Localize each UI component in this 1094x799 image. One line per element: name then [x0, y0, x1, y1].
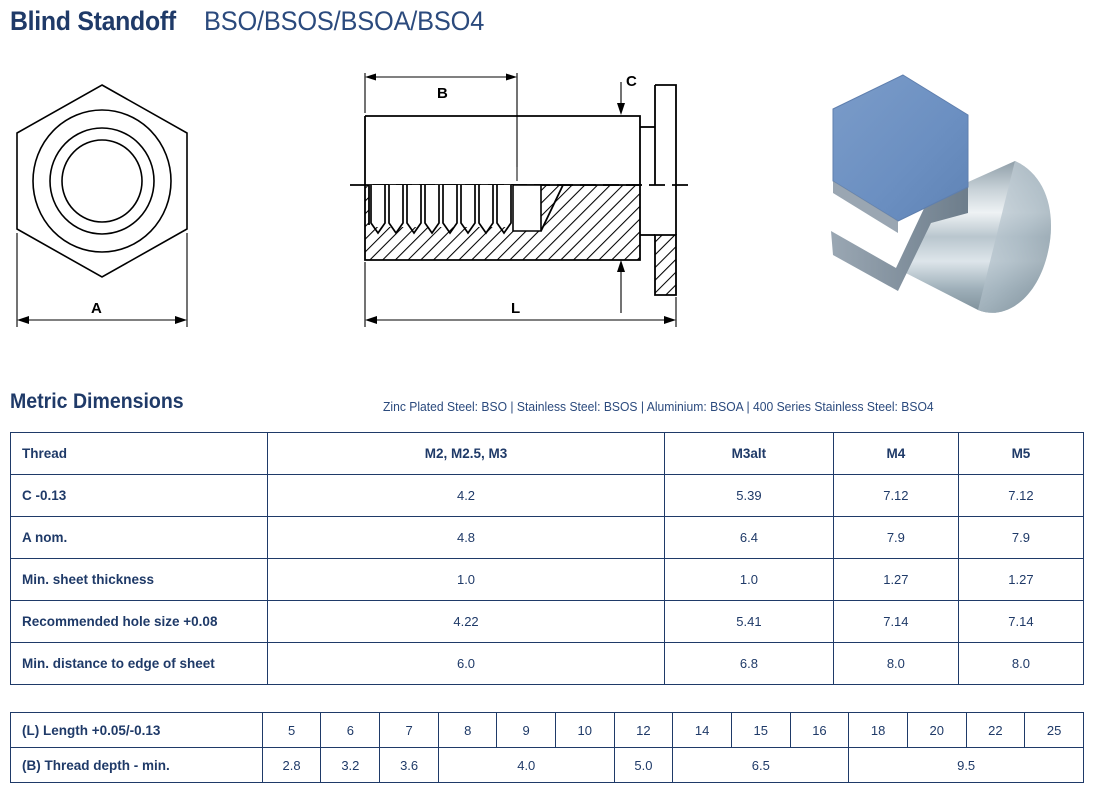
dim-label-l: L: [511, 300, 520, 317]
cell-length: 10: [555, 713, 614, 748]
cell-value: 7.14: [833, 601, 958, 643]
arrow-left-l: [365, 316, 377, 324]
table-header-row: Thread M2, M2.5, M3 M3alt M4 M5: [11, 433, 1084, 475]
sheet-upper-outline: [655, 85, 676, 185]
cell-value: 8.0: [833, 643, 958, 685]
circle-middle: [50, 128, 154, 234]
metric-dimensions-table: Thread M2, M2.5, M3 M3alt M4 M5 C -0.13 …: [10, 432, 1084, 685]
col-header-m3alt: M3alt: [665, 433, 834, 475]
cell-length: 9: [497, 713, 555, 748]
cell-value: 6.0: [268, 643, 665, 685]
hex-outline: [17, 85, 187, 277]
circle-outer: [33, 110, 171, 252]
materials-note: Zinc Plated Steel: BSO | Stainless Steel…: [383, 400, 934, 414]
cell-length: 20: [907, 713, 966, 748]
col-header-m4: M4: [833, 433, 958, 475]
thread-bore: [369, 185, 563, 233]
cell-length: 18: [849, 713, 908, 748]
cell-thread-depth: 4.0: [439, 748, 615, 783]
cell-value: 4.8: [268, 517, 665, 559]
cell-length: 16: [790, 713, 849, 748]
cell-value: 1.0: [665, 559, 834, 601]
row-label-c: C -0.13: [11, 475, 268, 517]
standoff-3d-render: [800, 63, 1070, 343]
cell-length: 12: [614, 713, 673, 748]
row-label-min-sheet-thickness: Min. sheet thickness: [11, 559, 268, 601]
cell-value: 5.39: [665, 475, 834, 517]
arrow-right-b: [506, 74, 517, 81]
table-row: Recommended hole size +0.08 4.22 5.41 7.…: [11, 601, 1084, 643]
table-row: Min. sheet thickness 1.0 1.0 1.27 1.27: [11, 559, 1084, 601]
cell-thread-depth: 2.8: [262, 748, 321, 783]
cell-thread-depth: 6.5: [673, 748, 849, 783]
technical-drawings: A: [0, 55, 1094, 355]
cell-length: 7: [380, 713, 439, 748]
cell-length: 22: [966, 713, 1025, 748]
cell-value: 7.12: [958, 475, 1083, 517]
arrow-left-b: [365, 74, 376, 81]
cell-thread-depth: 9.5: [849, 748, 1084, 783]
circle-inner: [62, 140, 142, 222]
table-row: Min. distance to edge of sheet 6.0 6.8 8…: [11, 643, 1084, 685]
dim-label-c: C: [626, 73, 637, 90]
cell-length: 5: [262, 713, 321, 748]
cell-value: 7.14: [958, 601, 1083, 643]
cell-value: 1.0: [268, 559, 665, 601]
hex-front-view: [5, 55, 220, 345]
table-row-length: (L) Length +0.05/-0.13 5 6 7 8 9 10 12 1…: [11, 713, 1084, 748]
table-row: A nom. 4.8 6.4 7.9 7.9: [11, 517, 1084, 559]
length-thread-depth-table: (L) Length +0.05/-0.13 5 6 7 8 9 10 12 1…: [10, 712, 1084, 783]
col-header-m2-m25-m3: M2, M2.5, M3: [268, 433, 665, 475]
page-title-main: Blind Standoff: [10, 6, 176, 37]
cell-value: 7.9: [958, 517, 1083, 559]
cell-value: 5.41: [665, 601, 834, 643]
dim-label-a: A: [91, 300, 102, 317]
row-label-length: (L) Length +0.05/-0.13: [11, 713, 263, 748]
table-row-thread-depth: (B) Thread depth - min. 2.8 3.2 3.6 4.0 …: [11, 748, 1084, 783]
arrow-left-a: [17, 316, 29, 324]
col-header-m5: M5: [958, 433, 1083, 475]
page-title: Blind Standoff BSO/BSOS/BSOA/BSO4: [10, 6, 502, 37]
arrow-down-c: [617, 103, 625, 115]
arrow-up-c: [617, 260, 625, 272]
cell-length: 8: [439, 713, 497, 748]
row-label-recommended-hole-size: Recommended hole size +0.08: [11, 601, 268, 643]
cell-value: 1.27: [833, 559, 958, 601]
cell-thread-depth: 3.6: [380, 748, 439, 783]
table-row: C -0.13 4.2 5.39 7.12 7.12: [11, 475, 1084, 517]
cell-length: 14: [673, 713, 732, 748]
cell-thread-depth: 3.2: [321, 748, 380, 783]
cell-value: 7.12: [833, 475, 958, 517]
dim-label-b: B: [437, 85, 448, 102]
col-header-thread: Thread: [11, 433, 268, 475]
page-title-product-codes: BSO/BSOS/BSOA/BSO4: [204, 6, 484, 37]
cell-value: 6.4: [665, 517, 834, 559]
cell-thread-depth: 5.0: [614, 748, 673, 783]
cell-value: 7.9: [833, 517, 958, 559]
cell-value: 4.22: [268, 601, 665, 643]
cell-length: 25: [1025, 713, 1084, 748]
row-label-min-edge-distance: Min. distance to edge of sheet: [11, 643, 268, 685]
cell-value: 1.27: [958, 559, 1083, 601]
cell-value: 4.2: [268, 475, 665, 517]
cell-value: 6.8: [665, 643, 834, 685]
cell-length: 6: [321, 713, 380, 748]
row-label-a-nom: A nom.: [11, 517, 268, 559]
row-label-thread-depth: (B) Thread depth - min.: [11, 748, 263, 783]
body-upper-outline: [365, 116, 640, 185]
cell-value: 8.0: [958, 643, 1083, 685]
arrow-right-a: [175, 316, 187, 324]
metric-dimensions-heading: Metric Dimensions: [10, 390, 184, 414]
arrow-right-l: [664, 316, 676, 324]
cell-length: 15: [731, 713, 790, 748]
